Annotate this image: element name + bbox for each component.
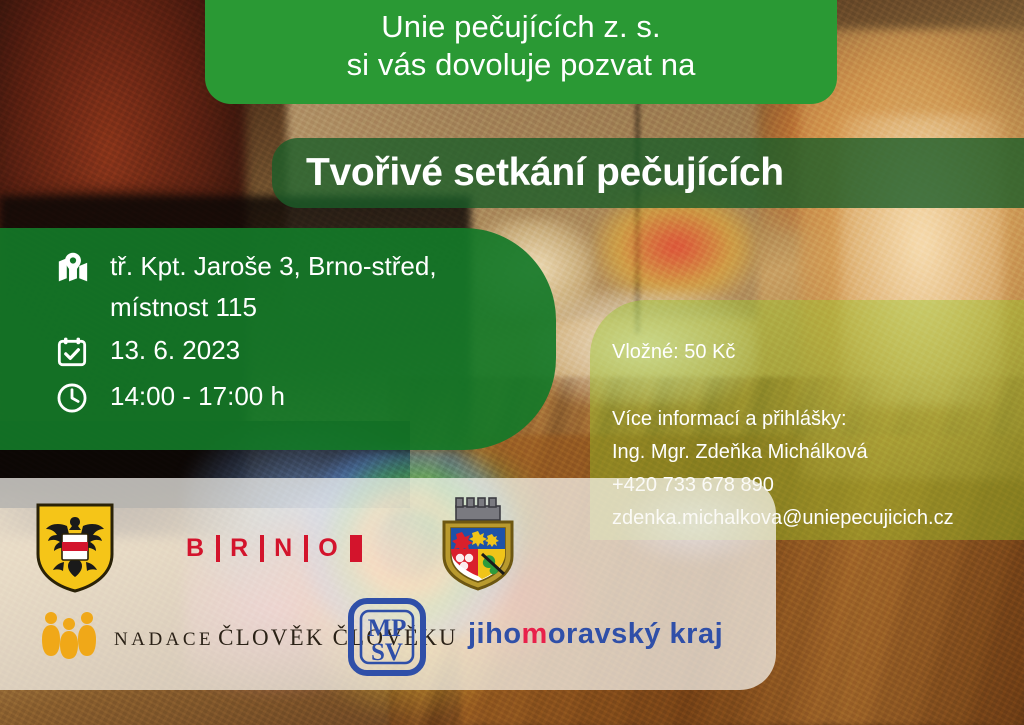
fee-text: Vložné: 50 Kč [612, 336, 1024, 369]
sponsor-logo-row-bottom: NADACE ČLOVĚK ČLOVĚKU MP SV jihomoravský… [0, 596, 776, 686]
brno-wordmark: BRNO [186, 534, 362, 563]
brno-coat-of-arms-icon [34, 502, 116, 594]
organizer-banner: Unie pečujících z. s. si vás dovoluje po… [205, 0, 837, 104]
svg-text:MP: MP [368, 615, 407, 642]
brno-divider-3 [304, 535, 308, 562]
brno-letter-b: B [186, 534, 206, 563]
event-details-panel: tř. Kpt. Jaroše 3, Brno-střed, místnost … [0, 228, 556, 450]
svg-text:SV: SV [371, 639, 403, 666]
event-title-banner: Tvořivé setkání pečujících [272, 138, 1024, 208]
time-text: 14:00 - 17:00 h [98, 376, 285, 417]
three-people-icon [38, 604, 100, 671]
location-row: tř. Kpt. Jaroše 3, Brno-střed, místnost … [56, 246, 556, 328]
contact-spacer [612, 369, 1024, 403]
brno-end-bar [350, 535, 362, 562]
location-text: tř. Kpt. Jaroše 3, Brno-střed, místnost … [98, 246, 437, 328]
jihomoravsky-kraj-coat-of-arms-icon [434, 492, 522, 594]
brno-letter-n: N [274, 534, 294, 563]
sponsor-logo-strip: BRNO [0, 478, 776, 690]
page-title: Tvořivé setkání pečujících [306, 151, 784, 195]
time-row: 14:00 - 17:00 h [56, 376, 556, 420]
jmk-word-m: m [522, 618, 548, 651]
more-info-label: Více informací a přihlášky: [612, 403, 1024, 436]
brno-letter-r: R [230, 534, 250, 563]
jmk-word-part-2: oravský kraj [548, 618, 723, 651]
date-text: 13. 6. 2023 [98, 330, 240, 371]
contact-name: Ing. Mgr. Zdeňka Michálková [612, 436, 1024, 469]
mpsv-logo: MP SV [348, 598, 426, 676]
brno-divider-2 [260, 535, 264, 562]
map-pin-icon [56, 246, 98, 290]
clock-icon [56, 376, 98, 420]
organizer-line-1: Unie pečujících z. s. [229, 8, 813, 46]
brno-divider-1 [216, 535, 220, 562]
location-line-1: tř. Kpt. Jaroše 3, Brno-střed, [110, 251, 437, 281]
location-line-2: místnost 115 [110, 287, 437, 328]
date-row: 13. 6. 2023 [56, 330, 556, 374]
calendar-check-icon [56, 330, 98, 374]
nadace-line-1: NADACE [114, 629, 214, 650]
brno-letter-o: O [318, 534, 339, 563]
organizer-line-2: si vás dovoluje pozvat na [229, 46, 813, 84]
sponsor-logo-row-top: BRNO [0, 488, 776, 592]
poster-canvas: Unie pečujících z. s. si vás dovoluje po… [0, 0, 1024, 725]
jihomoravsky-kraj-wordmark: jihomoravský kraj [468, 618, 723, 651]
jmk-word-part-1: jiho [468, 618, 522, 651]
